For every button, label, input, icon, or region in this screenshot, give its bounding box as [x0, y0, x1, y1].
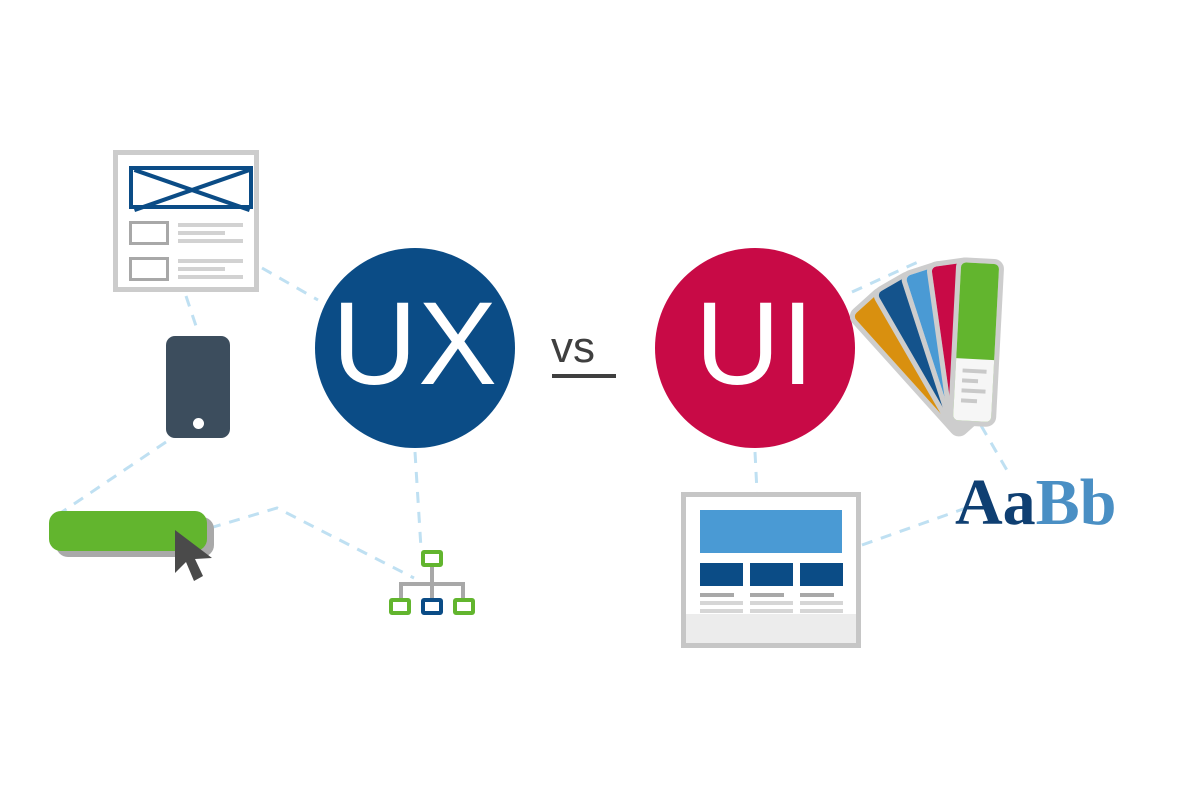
- typography-sample-light: Bb: [1036, 466, 1117, 539]
- wireframe-row: [129, 221, 243, 245]
- text-line-heading: [700, 593, 734, 597]
- connector-wireframe-to-phone: [186, 296, 198, 332]
- sitemap-connector: [399, 582, 403, 598]
- mockup-hero-banner: [700, 510, 842, 553]
- text-line: [700, 601, 743, 605]
- text-line: [178, 259, 243, 263]
- wireframe-text-lines: [178, 257, 243, 279]
- text-line: [178, 267, 225, 271]
- text-line: [178, 231, 225, 235]
- swatch-label-area: [953, 358, 994, 422]
- versus-underline: [552, 374, 616, 378]
- sitemap-connector: [430, 582, 434, 598]
- sitemap-node-root: [421, 550, 443, 567]
- home-button-icon: [193, 418, 204, 429]
- text-line: [178, 275, 243, 279]
- text-line: [750, 609, 793, 613]
- visual-design-mockup: [681, 492, 861, 648]
- cursor-arrow-icon: [172, 528, 218, 584]
- text-line-heading: [750, 593, 784, 597]
- swatch-label-line: [961, 388, 985, 393]
- connector-wireframe-to-ux: [262, 268, 318, 300]
- ui-circle: UI: [655, 248, 855, 448]
- mobile-device-icon: [166, 336, 230, 438]
- text-line: [800, 609, 843, 613]
- mockup-card: [700, 563, 743, 586]
- sitemap-node-child: [389, 598, 411, 615]
- text-line: [178, 223, 243, 227]
- ux-label: UX: [332, 285, 498, 403]
- text-line: [750, 601, 793, 605]
- text-line: [700, 609, 743, 613]
- swatch-label-line: [962, 368, 986, 373]
- mockup-columns: [700, 563, 842, 621]
- wireframe-image-placeholder: [129, 166, 253, 209]
- typography-sample: AaBb: [955, 470, 1116, 536]
- ui-label: UI: [695, 285, 815, 403]
- swatch-label-line: [961, 398, 977, 403]
- connector-button-to-sitemap: [210, 508, 414, 578]
- connector-ux-to-sitemap: [415, 452, 421, 548]
- swatch-card-green: [948, 257, 1005, 427]
- ux-circle: UX: [315, 248, 515, 448]
- mockup-column: [700, 563, 743, 621]
- sitemap-connector: [461, 582, 465, 598]
- text-line: [178, 239, 243, 243]
- sitemap-diagram: [388, 550, 476, 616]
- wireframe-sheet: [113, 150, 259, 292]
- mockup-column: [750, 563, 793, 621]
- swatch-label-line: [962, 378, 978, 383]
- wireframe-thumbnail: [129, 257, 169, 281]
- typography-sample-dark: Aa: [955, 466, 1036, 539]
- sitemap-node-child-active: [421, 598, 443, 615]
- wireframe-thumbnail: [129, 221, 169, 245]
- mockup-card: [800, 563, 843, 586]
- connector-ui-to-mockup: [755, 452, 757, 492]
- color-swatch-fan: [890, 140, 1110, 360]
- mockup-inner: [686, 497, 856, 643]
- text-line: [800, 601, 843, 605]
- connector-mockup-to-type: [862, 508, 966, 545]
- mockup-footer: [686, 614, 856, 643]
- wireframe-text-lines: [178, 221, 243, 243]
- connector-phone-to-button: [62, 442, 166, 512]
- text-line-heading: [800, 593, 834, 597]
- infographic-canvas: UX vs UI: [0, 0, 1200, 800]
- versus-label: vs: [551, 326, 595, 370]
- mockup-column: [800, 563, 843, 621]
- wireframe-row: [129, 257, 243, 281]
- mockup-card: [750, 563, 793, 586]
- sitemap-node-child: [453, 598, 475, 615]
